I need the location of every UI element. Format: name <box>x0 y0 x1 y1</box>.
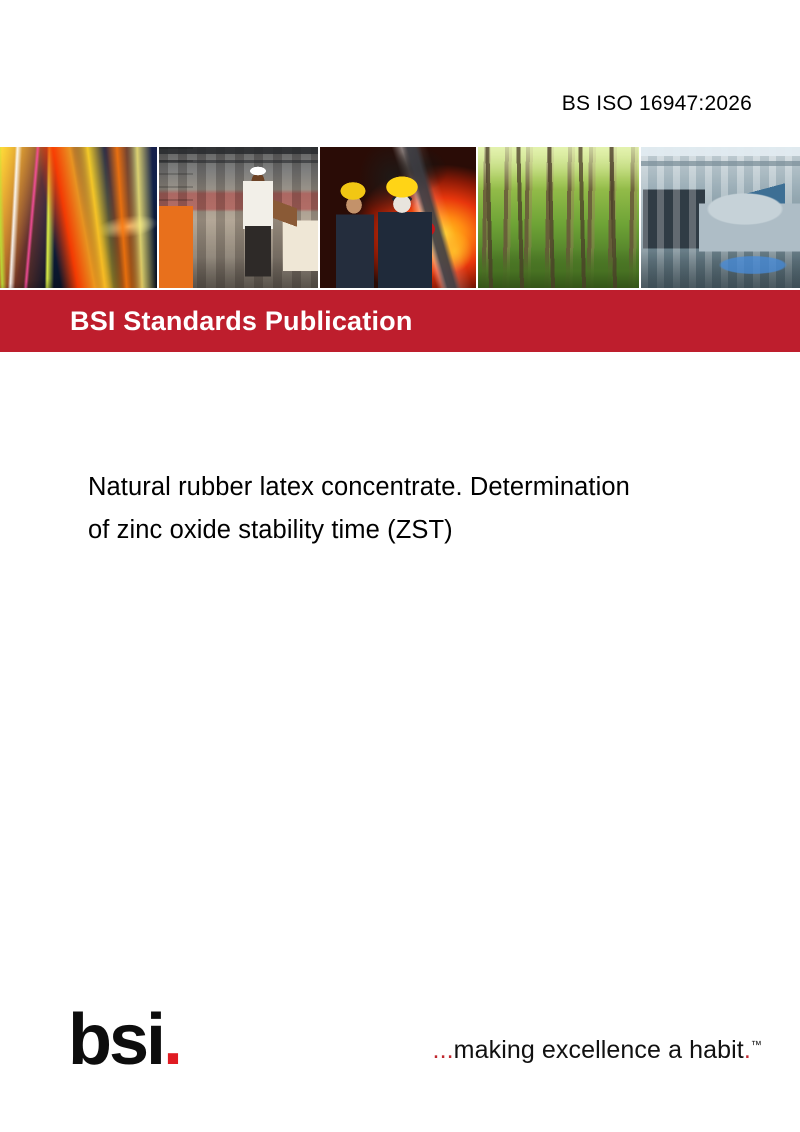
image-panel-car-assembly-line <box>641 147 800 288</box>
bsi-logo-dot: . <box>163 1000 180 1080</box>
standard-number: BS ISO 16947:2026 <box>562 92 752 116</box>
image-panel-light-trails-night-traffic <box>0 147 157 288</box>
trademark-symbol: ™ <box>751 1040 762 1052</box>
tagline-leading-ellipsis: ... <box>433 1036 454 1064</box>
tagline-end-dot: . <box>744 1036 751 1064</box>
page-title-line-2: of zinc oxide stability time (ZST) <box>88 509 800 552</box>
banner-label: BSI Standards Publication <box>70 306 413 337</box>
cover-image-strip <box>0 147 800 288</box>
bsi-logo: bsi. <box>68 1004 180 1076</box>
bsi-tagline: ...making excellence a habit.™ <box>433 1036 762 1065</box>
bsi-standards-banner: BSI Standards Publication <box>0 290 800 352</box>
bsi-logo-text: bsi <box>68 1000 163 1080</box>
image-panel-forest <box>478 147 639 288</box>
image-panel-warehouse-worker <box>159 147 318 288</box>
page-title: Natural rubber latex concentrate. Determ… <box>88 466 800 552</box>
tagline-text: making excellence a habit <box>454 1036 744 1064</box>
page-title-line-1: Natural rubber latex concentrate. Determ… <box>88 466 800 509</box>
image-panel-firefighters <box>320 147 475 288</box>
